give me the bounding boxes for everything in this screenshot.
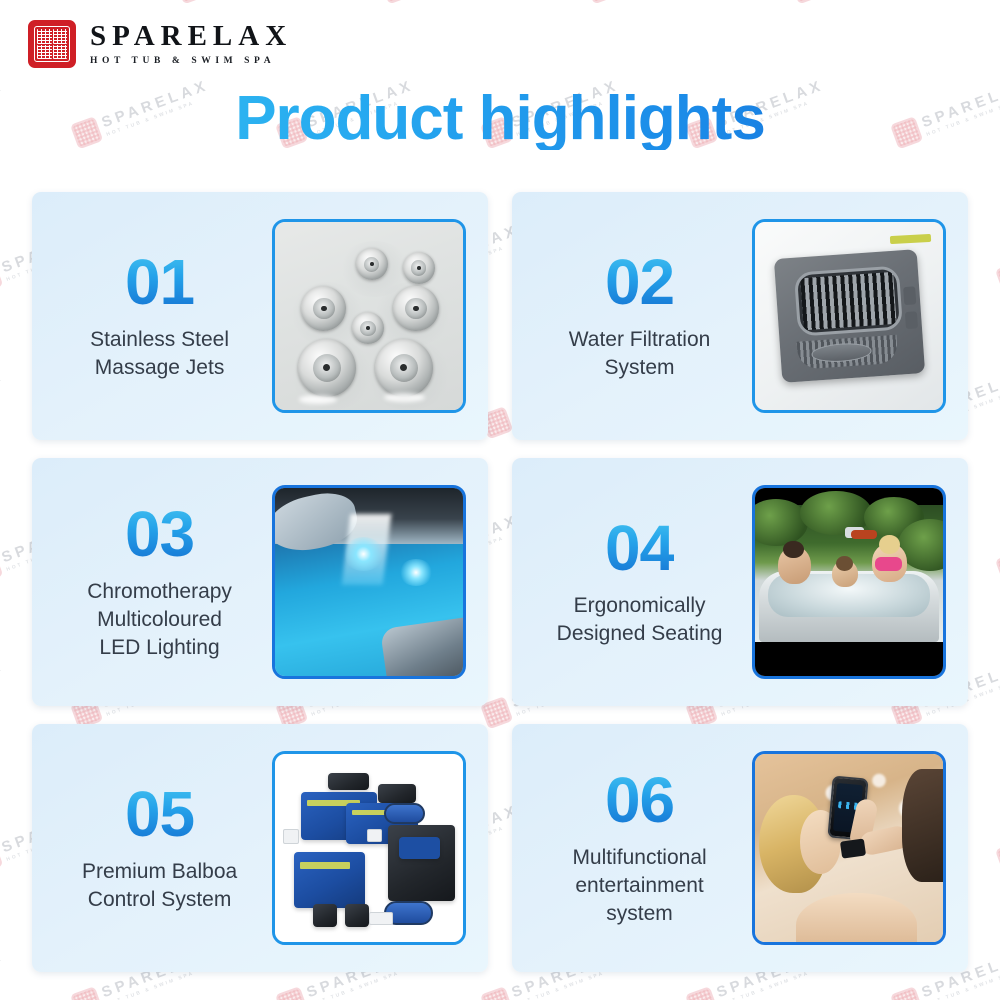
watermark-seal-icon [995,0,1000,4]
watermark-seal-icon [275,986,308,1000]
watermark-seal-icon [995,551,1000,584]
watermark-seal-icon [175,0,208,4]
watermark: SPARELAXHOT TUB & SWIM SPA [995,0,1000,4]
card-number-06: 06 [605,768,674,832]
card-label-02: Water Filtration System [569,326,711,381]
brand-tagline: HOT TUB & SWIM SPA [90,57,292,67]
highlight-card-04: 04 Ergonomically Designed Seating [512,458,968,706]
card-text-04: 04 Ergonomically Designed Seating [512,516,749,647]
water-filtration-system-photo [752,219,946,413]
watermark-seal-icon [585,0,618,4]
highlight-card-05: 05 Premium Balboa Control System [32,724,488,972]
watermark-seal-icon [70,986,103,1000]
card-number-03: 03 [125,502,194,566]
watermark-seal-icon [685,986,718,1000]
page-title: Product highlights [0,88,1000,150]
card-text-01: 01 Stainless Steel Massage Jets [32,250,269,381]
watermark: SPARELAXHOT TUB & SWIM SPA [790,0,934,4]
card-text-05: 05 Premium Balboa Control System [32,782,269,913]
card-label-06: Multifunctional entertainment system [572,844,706,927]
card-label-01: Stainless Steel Massage Jets [90,326,229,381]
brand-header: SPARELAX HOT TUB & SWIM SPA [28,20,292,68]
watermark-text: SPARELAX [0,367,6,420]
watermark-seal-icon [0,261,3,294]
card-number-02: 02 [605,250,674,314]
brand-wordmark: SPARELAX HOT TUB & SWIM SPA [90,22,292,67]
highlights-grid: 01 Stainless Steel Massage Jets [32,192,968,972]
watermark: SPARELAXHOT TUB & SWIM SPA [995,221,1000,295]
card-number-01: 01 [125,250,194,314]
balboa-control-system-photo [272,751,466,945]
watermark: SPARELAXHOT TUB & SWIM SPA [0,946,9,1000]
card-text-03: 03 Chromotherapy Multicoloured LED Light… [32,502,269,661]
stainless-steel-massage-jets-photo [272,219,466,413]
watermark-subtext: HOT TUB & SWIM SPA [0,674,8,717]
product-highlights-page: SPARELAX HOT TUB & SWIM SPA Product high… [0,0,1000,1000]
watermark-seal-icon [380,0,413,4]
watermark: SPARELAXHOT TUB & SWIM SPA [0,366,9,440]
card-text-02: 02 Water Filtration System [512,250,749,381]
card-label-04: Ergonomically Designed Seating [557,592,723,647]
highlight-card-01: 01 Stainless Steel Massage Jets [32,192,488,440]
watermark-seal-icon [0,551,3,584]
highlight-card-02: 02 Water Filtration System [512,192,968,440]
watermark: SPARELAXHOT TUB & SWIM SPA [585,0,729,4]
card-number-05: 05 [125,782,194,846]
watermark-seal-icon [995,841,1000,874]
multifunctional-entertainment-photo [752,751,946,945]
watermark: SPARELAXHOT TUB & SWIM SPA [0,0,114,4]
watermark: SPARELAXHOT TUB & SWIM SPA [175,0,319,4]
card-label-05: Premium Balboa Control System [82,858,237,913]
highlight-card-06: 06 Multifunctional entertainment system [512,724,968,972]
highlight-card-03: 03 Chromotherapy Multicoloured LED Light… [32,458,488,706]
card-number-04: 04 [605,516,674,580]
watermark: SPARELAXHOT TUB & SWIM SPA [995,801,1000,875]
card-text-06: 06 Multifunctional entertainment system [512,768,749,927]
watermark-seal-icon [995,261,1000,294]
chinese-seal-icon [28,20,76,68]
watermark: SPARELAXHOT TUB & SWIM SPA [995,511,1000,585]
watermark: SPARELAXHOT TUB & SWIM SPA [380,0,524,4]
watermark-seal-icon [790,0,823,4]
ergonomic-seating-photo [752,485,946,679]
watermark-seal-icon [890,986,923,1000]
watermark-subtext: HOT TUB & SWIM SPA [0,964,8,1000]
watermark-text: SPARELAX [0,657,6,710]
watermark-seal-icon [480,986,513,1000]
card-label-03: Chromotherapy Multicoloured LED Lighting [87,578,232,661]
chromotherapy-led-lighting-photo [272,485,466,679]
watermark-seal-icon [0,0,3,4]
watermark-seal-icon [0,841,3,874]
brand-name: SPARELAX [90,22,292,51]
watermark: SPARELAXHOT TUB & SWIM SPA [0,656,9,730]
watermark-text: SPARELAX [0,947,6,1000]
watermark-subtext: HOT TUB & SWIM SPA [0,384,8,427]
